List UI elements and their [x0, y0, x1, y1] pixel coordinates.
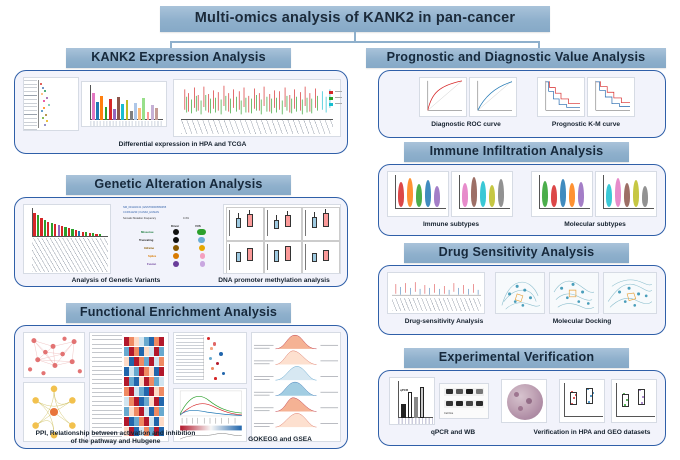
- section-header-immune-label: Immune Infiltration Analysis: [430, 145, 604, 158]
- thumb-hpa-ihc-image: [501, 379, 547, 423]
- thumb-tcga-pancancer-boxplot: [173, 79, 341, 137]
- thumb-western-blot: Cell line: [439, 383, 489, 419]
- section-header-expression: KANK2 Expression Analysis: [66, 48, 291, 68]
- thumb-roc-curve-1: [419, 77, 467, 117]
- mutation-col-driver: Driver: [171, 224, 179, 228]
- caption-expression-0: Differential expression in HPA and TCGA: [55, 141, 310, 149]
- section-header-functional: Functional Enrichment Analysis: [66, 303, 291, 323]
- panel-expression: Differential expression in HPA and TCGA: [14, 70, 348, 154]
- section-header-prognostic-label: Prognostic and Diagnostic Value Analysis: [387, 51, 646, 64]
- thumb-geo-validation-1: [559, 379, 605, 423]
- panel-prognostic: Diagnostic ROC curve Prognostic K-M curv…: [378, 70, 666, 138]
- thumb-roc-curve-2: [469, 77, 517, 117]
- section-header-drug: Drug Sensitivity Analysis: [404, 243, 629, 263]
- mutation-type-inframe: Inframe: [144, 246, 154, 250]
- thumb-drug-sensitivity-plot: [387, 272, 485, 314]
- thumb-immune-subtype-violin-2: [451, 171, 513, 217]
- mutation-type-missense: Missense: [141, 230, 154, 234]
- mutation-type-truncating: Truncating: [139, 238, 153, 242]
- caption-functional-0: PPI, Relationship between activation and…: [33, 430, 198, 446]
- thumb-molecular-docking-2: [549, 272, 599, 314]
- section-header-expression-label: KANK2 Expression Analysis: [91, 51, 266, 64]
- mutation-transcript-id-0: NM_001140131 | ENST00000566455: [123, 206, 166, 209]
- thumb-molecular-subtype-violin-2: [595, 171, 657, 217]
- section-header-immune: Immune Infiltration Analysis: [404, 142, 629, 162]
- cell-line-label: Cell line: [444, 412, 453, 415]
- mutation-frequency-value: 0.4%: [183, 217, 189, 220]
- panel-functional: PPI, Relationship between activation and…: [14, 325, 348, 449]
- thumb-gsea-ridge-plot: [251, 332, 341, 442]
- thumb-gokegg-dotplot: [173, 332, 247, 384]
- caption-genetic-1: DNA promoter methylation analysis: [205, 277, 343, 285]
- thumb-immune-subtype-violin-1: [387, 171, 449, 217]
- caption-prognostic-1: Prognostic K-M curve: [531, 121, 641, 129]
- thumb-ppi-network: [23, 332, 85, 378]
- mutation-col-vus: VUS: [195, 224, 201, 228]
- figure-title: Multi-omics analysis of KANK2 in pan-can…: [195, 11, 515, 26]
- section-header-drug-label: Drug Sensitivity Analysis: [439, 246, 595, 259]
- caption-genetic-0: Analysis of Genetic Variants: [41, 277, 191, 285]
- thumb-molecular-docking-3: [603, 272, 657, 314]
- caption-drug-1: Molecular Docking: [527, 318, 637, 326]
- thumb-hpa-bar-chart: [81, 81, 167, 127]
- mutation-frequency-label: Somatic Mutation Frequency: [123, 217, 156, 220]
- thumb-genetic-variant-waterfall: [23, 204, 111, 274]
- thumb-methylation-boxplot-grid: [223, 204, 341, 274]
- caption-functional-1: GOKEGG and GSEA: [220, 436, 340, 444]
- figure-title-banner: Multi-omics analysis of KANK2 in pan-can…: [160, 6, 550, 32]
- thumb-geo-validation-2: [611, 379, 657, 423]
- section-header-genetic: Genetic Alteration Analysis: [66, 175, 291, 195]
- thumb-qpcr-bar-chart: qPCR: [389, 377, 435, 425]
- panel-genetic: NM_001140131 | ENST00000566455 CCDS11233…: [14, 197, 348, 287]
- caption-experimental-1: Verification in HPA and GEO datasets: [527, 429, 657, 437]
- thumb-km-curve-1: [537, 77, 585, 117]
- graphical-abstract: Multi-omics analysis of KANK2 in pan-can…: [0, 0, 680, 460]
- panel-drug: Drug-sensitivity Analysis Molecular Dock…: [378, 265, 666, 335]
- section-header-experimental-label: Experimental Verification: [439, 351, 594, 364]
- section-header-functional-label: Functional Enrichment Analysis: [80, 306, 277, 319]
- thumb-mutation-legend: NM_001140131 | ENST00000566455 CCDS11233…: [119, 204, 215, 276]
- connector-horizontal-main: [170, 41, 540, 43]
- section-header-prognostic: Prognostic and Diagnostic Value Analysis: [366, 48, 666, 68]
- thumb-hpa-consensus-plot: [23, 77, 79, 131]
- mutation-type-splice: Splice: [148, 254, 156, 258]
- caption-prognostic-0: Diagnostic ROC curve: [411, 121, 521, 129]
- thumb-molecular-subtype-violin-1: [531, 171, 593, 217]
- thumb-pathway-heatmap: [89, 332, 169, 442]
- thumb-expression-legend: [327, 89, 343, 119]
- caption-immune-0: Immune subtypes: [401, 221, 501, 229]
- caption-immune-1: Molecular subtypes: [545, 221, 645, 229]
- caption-experimental-0: qPCR and WB: [403, 429, 503, 437]
- panel-experimental: qPCR Cell line: [378, 370, 666, 446]
- panel-immune: Immune subtypes Molecular subtypes: [378, 164, 666, 236]
- thumb-km-curve-2: [587, 77, 635, 117]
- mutation-type-fusion: Fusion: [147, 262, 156, 266]
- section-header-experimental: Experimental Verification: [404, 348, 629, 368]
- thumb-molecular-docking-1: [495, 272, 545, 314]
- caption-drug-0: Drug-sensitivity Analysis: [389, 318, 499, 326]
- mutation-transcript-id-1: CCDS11233 | KANK2_HUMAN: [123, 211, 159, 214]
- section-header-genetic-label: Genetic Alteration Analysis: [94, 178, 262, 191]
